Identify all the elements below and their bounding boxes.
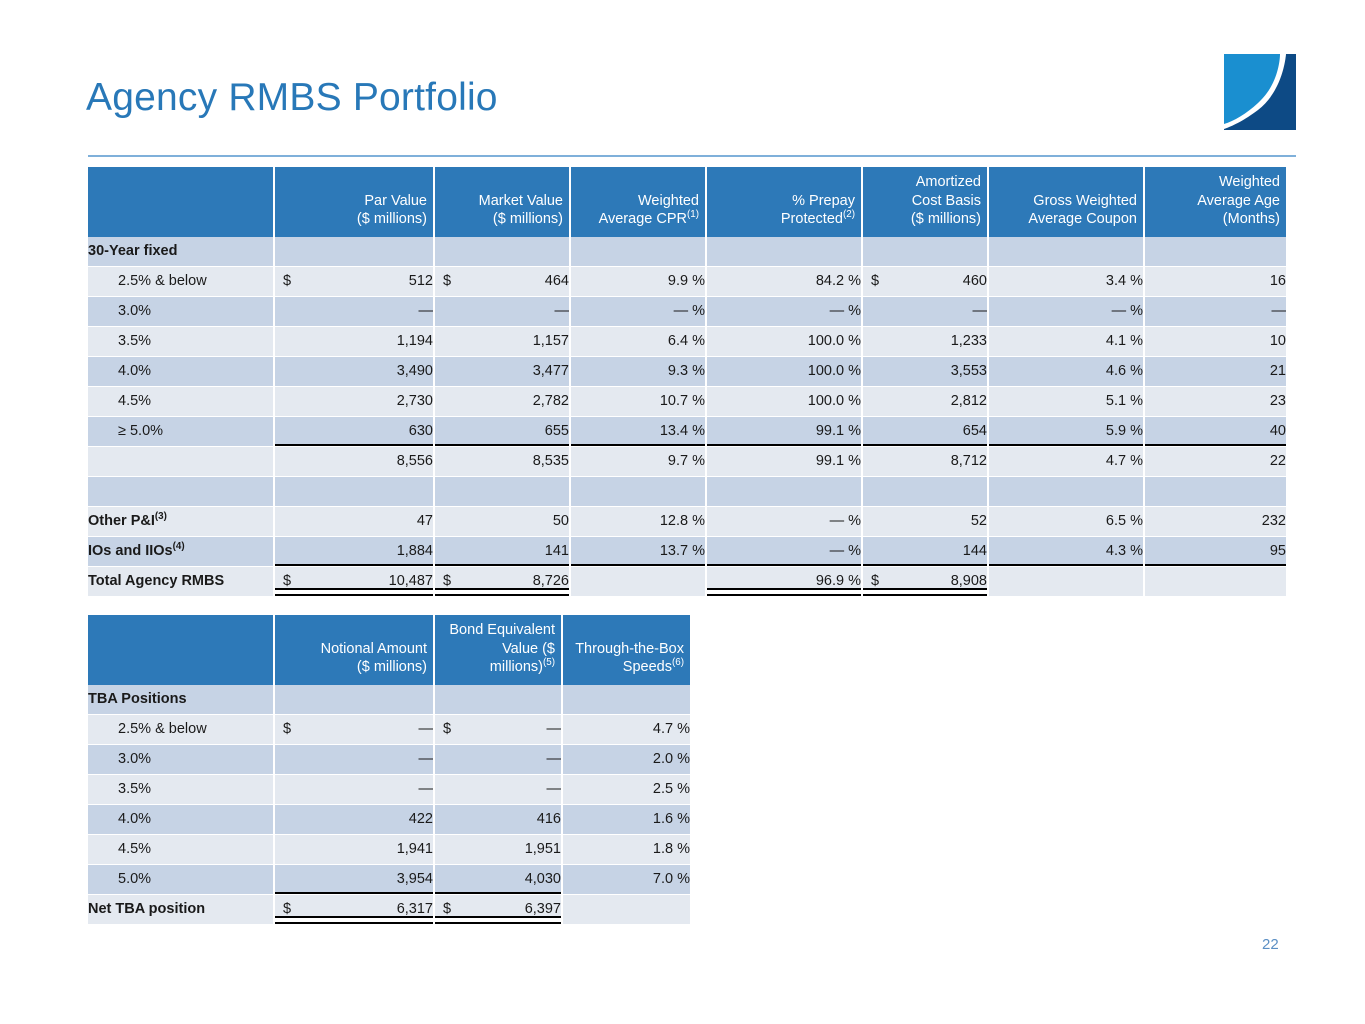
cell-value: 1,194	[397, 333, 433, 349]
company-logo	[1224, 54, 1296, 130]
cell-coupon: — %	[988, 296, 1144, 326]
cell-value: 5.9 %	[1106, 423, 1143, 439]
table2-header-row: Notional Amount($ millions)Bond Equivale…	[88, 615, 690, 685]
cell-prepay	[706, 476, 862, 506]
cell-age: —	[1144, 296, 1286, 326]
cell-notional: 422	[274, 804, 434, 834]
row-label: 3.5%	[88, 326, 274, 356]
cell-par: 47	[274, 506, 434, 536]
footnote-marker: (4)	[173, 541, 185, 552]
table1-header-row: Par Value($ millions)Market Value($ mill…	[88, 167, 1286, 237]
table-row: 4.0%4224161.6 %	[88, 804, 690, 834]
cell-bev: $6,397	[434, 894, 562, 924]
row-label: IOs and IIOs(4)	[88, 536, 274, 566]
table-row: ≥ 5.0%63065513.4 %99.1 %6545.9 %40	[88, 416, 1286, 446]
cell-value: 9.3 %	[668, 363, 705, 379]
cell-value: 84.2 %	[816, 273, 861, 289]
cell-value: 3,553	[951, 363, 987, 379]
column-header-line: Weighted	[1219, 174, 1280, 190]
cell-value: 3,477	[533, 363, 569, 379]
row-label-text: 3.0%	[118, 751, 151, 767]
cell-acb: 1,233	[862, 326, 988, 356]
cell-speeds: 1.8 %	[562, 834, 690, 864]
cell-value: 52	[971, 513, 987, 529]
cell-acb: 654	[862, 416, 988, 446]
cell-cpr: 10.7 %	[570, 386, 706, 416]
cell-par: $512	[274, 266, 434, 296]
cell-mkt: 3,477	[434, 356, 570, 386]
column-header-4: % PrepayProtected(2)	[706, 167, 862, 237]
cell-age: 95	[1144, 536, 1286, 566]
row-label-text: 4.0%	[118, 811, 151, 827]
cell-par	[274, 476, 434, 506]
currency-symbol: $	[283, 715, 291, 744]
cell-age	[1144, 476, 1286, 506]
table-row: 5.0%3,9544,0307.0 %	[88, 864, 690, 894]
cell-prepay: — %	[706, 296, 862, 326]
cell-age: 22	[1144, 446, 1286, 476]
column-header-2: Bond EquivalentValue ($millions)(5)	[434, 615, 562, 685]
cell-value: 5.1 %	[1106, 393, 1143, 409]
cell-prepay: — %	[706, 506, 862, 536]
cell-value: 4,030	[525, 871, 561, 887]
cell-value: 2,812	[951, 393, 987, 409]
cell-mkt: 655	[434, 416, 570, 446]
cell-value: 144	[963, 543, 987, 559]
cell-value: — %	[830, 543, 861, 559]
table1-body: 30-Year fixed 2.5% & below$512$4649.9 %8…	[88, 237, 1286, 597]
cell-coupon	[988, 566, 1144, 596]
cell-value: 1,941	[397, 841, 433, 857]
cell-value: 1,157	[533, 333, 569, 349]
cell-value: — %	[1112, 303, 1143, 319]
cell-value: 232	[1262, 513, 1286, 529]
cell-cpr: 6.4 %	[570, 326, 706, 356]
table-row: 4.5%2,7302,78210.7 %100.0 %2,8125.1 %23	[88, 386, 1286, 416]
cell-bev: —	[434, 774, 562, 804]
footnote-marker: (1)	[687, 209, 699, 220]
column-header-5: AmortizedCost Basis($ millions)	[862, 167, 988, 237]
cell-value: 21	[1270, 363, 1286, 379]
row-label-text: 3.5%	[118, 333, 151, 349]
cell-value: 3,954	[397, 871, 433, 887]
cell-value: 12.8 %	[660, 513, 705, 529]
cell-value: 654	[963, 423, 987, 439]
cell-value: 2,730	[397, 393, 433, 409]
cell-value: — %	[830, 513, 861, 529]
cell-value: 630	[409, 423, 433, 439]
row-label: Other P&I(3)	[88, 506, 274, 536]
column-header-line: Cost Basis	[912, 193, 981, 209]
row-label: TBA Positions	[88, 685, 274, 715]
column-header-line: ($ millions)	[911, 211, 981, 227]
cell-cpr: 9.9 %	[570, 266, 706, 296]
cell-value: 40	[1270, 423, 1286, 439]
cell-par: 630	[274, 416, 434, 446]
cell-value: 464	[545, 273, 569, 289]
cell-value: 22	[1270, 453, 1286, 469]
cell-acb: 3,553	[862, 356, 988, 386]
cell-coupon: 4.3 %	[988, 536, 1144, 566]
cell-value: 9.7 %	[668, 453, 705, 469]
column-header-line: % Prepay	[792, 193, 855, 209]
cell-coupon: 3.4 %	[988, 266, 1144, 296]
cell-value: 9.9 %	[668, 273, 705, 289]
cell-mkt: 50	[434, 506, 570, 536]
column-header-line: ($ millions)	[493, 211, 563, 227]
cell-mkt: 8,535	[434, 446, 570, 476]
cell-value: 16	[1270, 273, 1286, 289]
row-label-text: 3.0%	[118, 303, 151, 319]
table-row: 2.5% & below$—$—4.7 %	[88, 714, 690, 744]
agency-rmbs-table: Par Value($ millions)Market Value($ mill…	[88, 167, 1286, 597]
cell-acb	[862, 476, 988, 506]
cell-mkt: —	[434, 296, 570, 326]
cell-value: 8,908	[951, 573, 987, 589]
cell-cpr	[570, 476, 706, 506]
table-row: 8,5568,5359.7 %99.1 %8,7124.7 %22	[88, 446, 1286, 476]
cell-cpr: — %	[570, 296, 706, 326]
cell-value: 8,535	[533, 453, 569, 469]
cell-value: 6,317	[397, 901, 433, 917]
cell-value: 6.5 %	[1106, 513, 1143, 529]
footnote-marker: (5)	[543, 657, 555, 668]
row-label-text: Total Agency RMBS	[88, 573, 224, 589]
row-label-text: 30-Year fixed	[88, 243, 177, 259]
cell-par: 3,490	[274, 356, 434, 386]
row-label: Net TBA position	[88, 894, 274, 924]
row-label: 4.0%	[88, 356, 274, 386]
table-row: IOs and IIOs(4)1,88414113.7 %— %1444.3 %…	[88, 536, 1286, 566]
footnote-marker: (6)	[672, 657, 684, 668]
cell-value: 4.7 %	[653, 721, 690, 737]
cell-notional: —	[274, 744, 434, 774]
cell-acb: —	[862, 296, 988, 326]
cell-value: 2.0 %	[653, 751, 690, 767]
cell-value: 8,712	[951, 453, 987, 469]
column-header-line: ($ millions)	[357, 659, 427, 675]
column-header-line: Gross Weighted	[1033, 193, 1137, 209]
cell-value: —	[547, 751, 562, 767]
cell-mkt: 2,782	[434, 386, 570, 416]
cell-value: 3,490	[397, 363, 433, 379]
cell-coupon: 5.9 %	[988, 416, 1144, 446]
cell-value: 2.5 %	[653, 781, 690, 797]
cell-coupon	[988, 237, 1144, 267]
table-row: 3.0%——— %— %—— %—	[88, 296, 1286, 326]
cell-acb: 2,812	[862, 386, 988, 416]
cell-cpr: 12.8 %	[570, 506, 706, 536]
row-label: Total Agency RMBS	[88, 566, 274, 596]
column-header-line: Notional Amount	[321, 641, 427, 657]
footnote-marker: (3)	[155, 511, 167, 522]
table-row: 4.0%3,4903,4779.3 %100.0 %3,5534.6 %21	[88, 356, 1286, 386]
cell-cpr	[570, 237, 706, 267]
cell-notional: 1,941	[274, 834, 434, 864]
column-header-line: Weighted	[638, 193, 699, 209]
cell-value: 141	[545, 543, 569, 559]
tba-positions-table: Notional Amount($ millions)Bond Equivale…	[88, 615, 690, 925]
cell-value: 4.7 %	[1106, 453, 1143, 469]
row-label: 4.0%	[88, 804, 274, 834]
cell-value: 416	[537, 811, 561, 827]
column-header-line: Protected	[781, 211, 843, 227]
cell-value: 7.0 %	[653, 871, 690, 887]
row-label-text: TBA Positions	[88, 691, 187, 707]
footnote-marker: (2)	[843, 209, 855, 220]
cell-acb: 52	[862, 506, 988, 536]
cell-value: 6,397	[525, 901, 561, 917]
cell-speeds: 1.6 %	[562, 804, 690, 834]
column-header-line: Bond Equivalent	[449, 622, 555, 638]
cell-value: 2,782	[533, 393, 569, 409]
cell-acb: 8,712	[862, 446, 988, 476]
table-row	[88, 476, 1286, 506]
cell-value: 99.1 %	[816, 423, 861, 439]
cell-value: 4.3 %	[1106, 543, 1143, 559]
column-header-line: (Months)	[1223, 211, 1280, 227]
cell-coupon: 6.5 %	[988, 506, 1144, 536]
cell-acb: 144	[862, 536, 988, 566]
currency-symbol: $	[871, 567, 879, 596]
cell-value: 13.4 %	[660, 423, 705, 439]
cell-value: —	[555, 303, 570, 319]
cell-value: 460	[963, 273, 987, 289]
column-header-6: Gross WeightedAverage Coupon	[988, 167, 1144, 237]
row-label-text: 4.0%	[118, 363, 151, 379]
column-header-1: Notional Amount($ millions)	[274, 615, 434, 685]
cell-value: 100.0 %	[808, 363, 861, 379]
cell-speeds	[562, 894, 690, 924]
row-label-text: 4.5%	[118, 393, 151, 409]
cell-value: 4.1 %	[1106, 333, 1143, 349]
cell-speeds: 4.7 %	[562, 714, 690, 744]
cell-value: 422	[409, 811, 433, 827]
cell-value: 1.6 %	[653, 811, 690, 827]
cell-par: $10,487	[274, 566, 434, 596]
cell-value: —	[419, 751, 434, 767]
currency-symbol: $	[283, 567, 291, 596]
cell-value: — %	[674, 303, 705, 319]
table-row: 30-Year fixed	[88, 237, 1286, 267]
column-header-0	[88, 615, 274, 685]
cell-prepay	[706, 237, 862, 267]
cell-value: 100.0 %	[808, 393, 861, 409]
cell-bev	[434, 685, 562, 715]
cell-value: 8,556	[397, 453, 433, 469]
cell-par: 8,556	[274, 446, 434, 476]
row-label-text: 3.5%	[118, 781, 151, 797]
cell-coupon: 5.1 %	[988, 386, 1144, 416]
cell-value: 1,884	[397, 543, 433, 559]
cell-speeds: 2.0 %	[562, 744, 690, 774]
table2-body: TBA Positions 2.5% & below$—$—4.7 %3.0%—…	[88, 685, 690, 925]
cell-par: 1,194	[274, 326, 434, 356]
cell-speeds: 7.0 %	[562, 864, 690, 894]
cell-value: 99.1 %	[816, 453, 861, 469]
cell-value: 13.7 %	[660, 543, 705, 559]
row-label: 4.5%	[88, 386, 274, 416]
cell-par	[274, 237, 434, 267]
cell-cpr: 13.4 %	[570, 416, 706, 446]
column-header-1: Par Value($ millions)	[274, 167, 434, 237]
row-label: 2.5% & below	[88, 266, 274, 296]
cell-par: 2,730	[274, 386, 434, 416]
row-label	[88, 446, 274, 476]
table-row: 3.5%——2.5 %	[88, 774, 690, 804]
column-header-line: Through-the-Box	[575, 641, 684, 657]
cell-value: —	[419, 303, 434, 319]
cell-bev: 416	[434, 804, 562, 834]
cell-mkt	[434, 237, 570, 267]
cell-age: 21	[1144, 356, 1286, 386]
column-header-line: Par Value	[364, 193, 427, 209]
cell-notional: 3,954	[274, 864, 434, 894]
row-label: ≥ 5.0%	[88, 416, 274, 446]
column-header-2: Market Value($ millions)	[434, 167, 570, 237]
cell-value: 10	[1270, 333, 1286, 349]
cell-speeds: 2.5 %	[562, 774, 690, 804]
cell-mkt	[434, 476, 570, 506]
table-row: 2.5% & below$512$4649.9 %84.2 %$4603.4 %…	[88, 266, 1286, 296]
row-label	[88, 476, 274, 506]
cell-value: 3.4 %	[1106, 273, 1143, 289]
row-label-text: Net TBA position	[88, 901, 205, 917]
table-row: Total Agency RMBS$10,487$8,726 96.9 %$8,…	[88, 566, 1286, 596]
currency-symbol: $	[283, 267, 291, 296]
row-label-text: 4.5%	[118, 841, 151, 857]
cell-value: 6.4 %	[668, 333, 705, 349]
column-header-7: WeightedAverage Age(Months)	[1144, 167, 1286, 237]
cell-value: —	[547, 781, 562, 797]
cell-coupon: 4.7 %	[988, 446, 1144, 476]
cell-value: 47	[417, 513, 433, 529]
cell-mkt: 1,157	[434, 326, 570, 356]
cell-notional	[274, 685, 434, 715]
cell-bev: 4,030	[434, 864, 562, 894]
table-row: Other P&I(3)475012.8 %— %526.5 %232	[88, 506, 1286, 536]
cell-value: 1,951	[525, 841, 561, 857]
title-divider	[88, 155, 1296, 157]
currency-symbol: $	[871, 267, 879, 296]
cell-prepay: 100.0 %	[706, 326, 862, 356]
column-header-line: Value ($	[502, 641, 555, 657]
cell-cpr: 9.7 %	[570, 446, 706, 476]
cell-speeds	[562, 685, 690, 715]
row-label: 5.0%	[88, 864, 274, 894]
cell-age	[1144, 237, 1286, 267]
cell-value: — %	[830, 303, 861, 319]
cell-mkt: $8,726	[434, 566, 570, 596]
cell-bev: —	[434, 744, 562, 774]
cell-value: 1,233	[951, 333, 987, 349]
cell-value: 1.8 %	[653, 841, 690, 857]
column-header-line: Average Coupon	[1028, 211, 1137, 227]
cell-bev: $—	[434, 714, 562, 744]
cell-prepay: — %	[706, 536, 862, 566]
cell-prepay: 84.2 %	[706, 266, 862, 296]
currency-symbol: $	[443, 267, 451, 296]
cell-age: 10	[1144, 326, 1286, 356]
cell-value: 4.6 %	[1106, 363, 1143, 379]
cell-value: 50	[553, 513, 569, 529]
page-number: 22	[1262, 936, 1279, 953]
row-label-text: 2.5% & below	[118, 273, 207, 289]
table-row: 3.5%1,1941,1576.4 %100.0 %1,2334.1 %10	[88, 326, 1286, 356]
cell-acb: $460	[862, 266, 988, 296]
table-row: 4.5%1,9411,9511.8 %	[88, 834, 690, 864]
cell-value: —	[419, 721, 434, 737]
row-label-text: 2.5% & below	[118, 721, 207, 737]
page-title: Agency RMBS Portfolio	[86, 76, 498, 120]
cell-value: 655	[545, 423, 569, 439]
table-row: TBA Positions	[88, 685, 690, 715]
column-header-3: WeightedAverage CPR(1)	[570, 167, 706, 237]
cell-value: —	[419, 781, 434, 797]
table-row: Net TBA position$6,317$6,397	[88, 894, 690, 924]
cell-prepay: 99.1 %	[706, 446, 862, 476]
column-header-3: Through-the-BoxSpeeds(6)	[562, 615, 690, 685]
cell-age: 16	[1144, 266, 1286, 296]
cell-value: 23	[1270, 393, 1286, 409]
column-header-line: Average Age	[1197, 193, 1280, 209]
cell-coupon	[988, 476, 1144, 506]
row-label: 3.0%	[88, 296, 274, 326]
cell-bev: 1,951	[434, 834, 562, 864]
row-label: 4.5%	[88, 834, 274, 864]
cell-cpr: 13.7 %	[570, 536, 706, 566]
row-label: 3.0%	[88, 744, 274, 774]
cell-value: 96.9 %	[816, 573, 861, 589]
cell-coupon: 4.6 %	[988, 356, 1144, 386]
currency-symbol: $	[283, 895, 291, 924]
column-header-0	[88, 167, 274, 237]
cell-value: —	[1272, 303, 1287, 319]
row-label: 3.5%	[88, 774, 274, 804]
cell-cpr: 9.3 %	[570, 356, 706, 386]
column-header-line: millions)	[490, 659, 543, 675]
column-header-line: ($ millions)	[357, 211, 427, 227]
column-header-line: Market Value	[479, 193, 563, 209]
cell-prepay: 96.9 %	[706, 566, 862, 596]
cell-notional: $—	[274, 714, 434, 744]
column-header-line: Amortized	[916, 174, 981, 190]
row-label-text: ≥ 5.0%	[118, 423, 163, 439]
table-row: 3.0%——2.0 %	[88, 744, 690, 774]
cell-notional: —	[274, 774, 434, 804]
column-header-line: Speeds	[623, 659, 672, 675]
cell-acb	[862, 237, 988, 267]
row-label-text: 5.0%	[118, 871, 151, 887]
cell-value: 8,726	[533, 573, 569, 589]
cell-value: 95	[1270, 543, 1286, 559]
cell-par: —	[274, 296, 434, 326]
cell-prepay: 100.0 %	[706, 386, 862, 416]
currency-symbol: $	[443, 715, 451, 744]
row-label: 30-Year fixed	[88, 237, 274, 267]
currency-symbol: $	[443, 567, 451, 596]
cell-value: 100.0 %	[808, 333, 861, 349]
currency-symbol: $	[443, 895, 451, 924]
cell-value: 512	[409, 273, 433, 289]
cell-value: —	[547, 721, 562, 737]
cell-mkt: 141	[434, 536, 570, 566]
cell-value: 10.7 %	[660, 393, 705, 409]
cell-age: 23	[1144, 386, 1286, 416]
cell-acb: $8,908	[862, 566, 988, 596]
cell-coupon: 4.1 %	[988, 326, 1144, 356]
cell-prepay: 99.1 %	[706, 416, 862, 446]
